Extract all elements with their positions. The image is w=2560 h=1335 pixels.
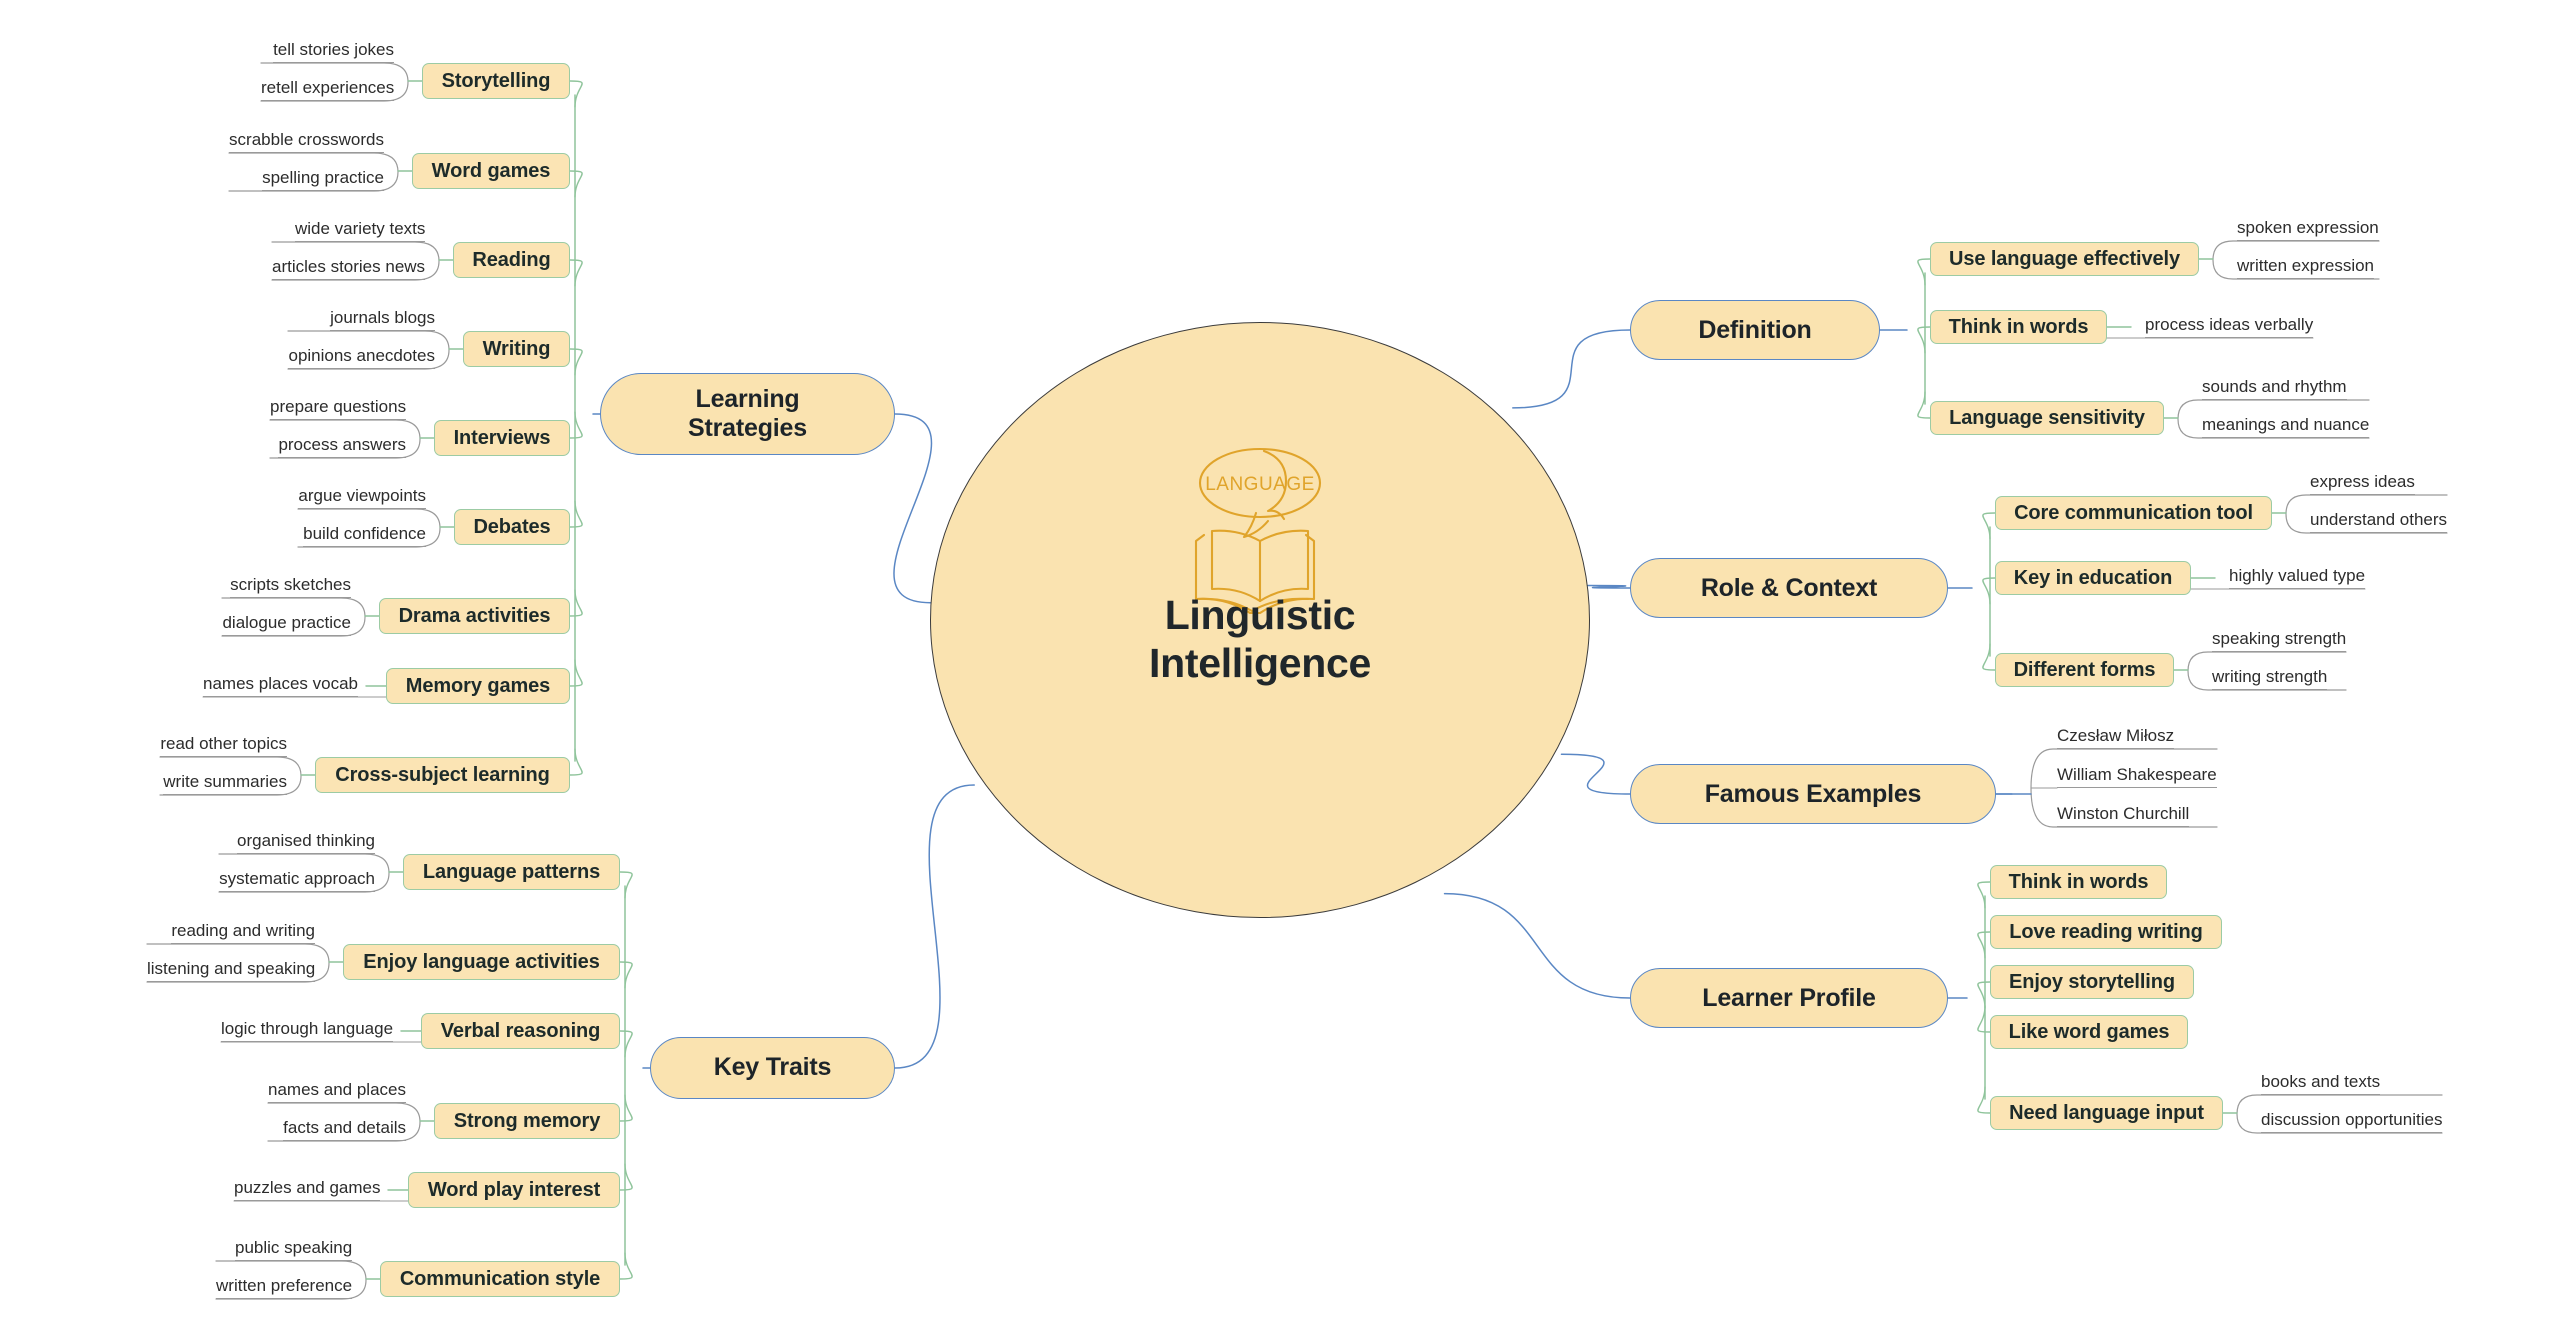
node-learning-strategies-4-label: Interviews [454, 427, 551, 450]
leaf-learning-strategies-6-0[interactable]: scripts sketches [230, 576, 351, 598]
leaf-key-traits-3-0[interactable]: names and places [268, 1081, 406, 1103]
node-role-and-context-2-label: Different forms [2014, 659, 2156, 682]
node-learning-strategies-8-label: Cross-subject learning [335, 764, 550, 787]
node-key-traits-3-label: Strong memory [454, 1110, 601, 1133]
node-definition-1-label: Think in words [1949, 316, 2089, 339]
leaf-famous-examples-0[interactable]: Czesław Miłosz [2057, 727, 2174, 749]
leaf-definition-2-1[interactable]: meanings and nuance [2202, 416, 2369, 438]
leaf-key-traits-4-0-label: puzzles and games [234, 1178, 380, 1197]
node-learner-profile-4[interactable]: Need language input [1990, 1096, 2223, 1130]
branch-learner-profile[interactable]: Learner Profile [1630, 968, 1948, 1028]
node-learning-strategies-5[interactable]: Debates [454, 509, 570, 545]
leaf-learning-strategies-8-0-label: read other topics [160, 734, 287, 753]
leaf-famous-examples-0-label: Czesław Miłosz [2057, 726, 2174, 745]
node-key-traits-3[interactable]: Strong memory [434, 1103, 620, 1139]
leaf-key-traits-3-1[interactable]: facts and details [283, 1119, 406, 1141]
leaf-definition-0-1-label: written expression [2237, 256, 2374, 275]
leaf-definition-2-0-label: sounds and rhythm [2202, 377, 2347, 396]
node-key-traits-4[interactable]: Word play interest [408, 1172, 620, 1208]
leaf-definition-1-0[interactable]: process ideas verbally [2145, 316, 2313, 338]
node-learner-profile-4-label: Need language input [2009, 1102, 2204, 1125]
leaf-learning-strategies-2-1-label: articles stories news [272, 257, 425, 276]
node-learning-strategies-2-label: Reading [472, 249, 550, 272]
node-learning-strategies-6[interactable]: Drama activities [379, 598, 570, 634]
leaf-definition-0-0[interactable]: spoken expression [2237, 219, 2379, 241]
leaf-definition-0-0-label: spoken expression [2237, 218, 2379, 237]
leaf-definition-0-1[interactable]: written expression [2237, 257, 2374, 279]
leaf-learning-strategies-5-0[interactable]: argue viewpoints [298, 487, 426, 509]
node-learning-strategies-0[interactable]: Storytelling [422, 63, 570, 99]
leaf-learning-strategies-6-1[interactable]: dialogue practice [222, 614, 351, 636]
leaf-learning-strategies-5-1[interactable]: build confidence [303, 525, 426, 547]
leaf-learning-strategies-0-0[interactable]: tell stories jokes [273, 41, 394, 63]
node-learning-strategies-7-label: Memory games [406, 675, 550, 698]
leaf-role-and-context-2-1[interactable]: writing strength [2212, 668, 2327, 690]
node-definition-2[interactable]: Language sensitivity [1930, 401, 2164, 435]
node-learner-profile-3-label: Like word games [2009, 1021, 2170, 1044]
branch-key-traits-label: Key Traits [714, 1053, 832, 1083]
leaf-learning-strategies-6-1-label: dialogue practice [222, 613, 351, 632]
node-learning-strategies-0-label: Storytelling [442, 70, 551, 93]
node-learning-strategies-3-label: Writing [483, 338, 551, 361]
node-role-and-context-0-label: Core communication tool [2014, 502, 2253, 525]
leaf-key-traits-5-1-label: written preference [216, 1276, 352, 1295]
leaf-role-and-context-2-1-label: writing strength [2212, 667, 2327, 686]
leaf-key-traits-3-0-label: names and places [268, 1080, 406, 1099]
leaf-learner-profile-4-1[interactable]: discussion opportunities [2261, 1111, 2442, 1133]
branch-learning-strategies[interactable]: LearningStrategies [600, 373, 895, 455]
leaf-key-traits-0-1-label: systematic approach [219, 869, 375, 888]
node-learner-profile-0-label: Think in words [2009, 871, 2149, 894]
leaf-role-and-context-2-0-label: speaking strength [2212, 629, 2346, 648]
leaf-key-traits-5-0[interactable]: public speaking [235, 1239, 352, 1261]
node-role-and-context-1-label: Key in education [2014, 567, 2172, 590]
node-learning-strategies-4[interactable]: Interviews [434, 420, 570, 456]
leaf-famous-examples-2[interactable]: Winston Churchill [2057, 805, 2189, 827]
node-definition-0[interactable]: Use language effectively [1930, 242, 2199, 276]
leaf-learning-strategies-4-1[interactable]: process answers [278, 436, 406, 458]
leaf-key-traits-0-1[interactable]: systematic approach [219, 870, 375, 892]
node-learner-profile-1-label: Love reading writing [2009, 921, 2203, 944]
branch-learner-profile-label: Learner Profile [1702, 984, 1875, 1013]
leaf-learning-strategies-2-1[interactable]: articles stories news [272, 258, 425, 280]
leaf-definition-2-1-label: meanings and nuance [2202, 415, 2369, 434]
leaf-role-and-context-1-0-label: highly valued type [2229, 566, 2365, 585]
branch-definition-label: Definition [1698, 316, 1811, 345]
leaf-learning-strategies-8-1-label: write summaries [163, 772, 287, 791]
leaf-learner-profile-4-0-label: books and texts [2261, 1072, 2380, 1091]
leaf-famous-examples-1-label: William Shakespeare [2057, 765, 2217, 784]
branch-role-and-context[interactable]: Role & Context [1630, 558, 1948, 618]
node-key-traits-0-label: Language patterns [423, 861, 600, 884]
leaf-key-traits-1-1[interactable]: listening and speaking [147, 960, 315, 982]
node-key-traits-5[interactable]: Communication style [380, 1261, 620, 1297]
node-learning-strategies-7[interactable]: Memory games [386, 668, 570, 704]
leaf-key-traits-1-1-label: listening and speaking [147, 959, 315, 978]
leaf-learning-strategies-4-0-label: prepare questions [270, 397, 406, 416]
leaf-learning-strategies-5-1-label: build confidence [303, 524, 426, 543]
leaf-learning-strategies-1-0-label: scrabble crosswords [229, 130, 384, 149]
leaf-learning-strategies-3-0[interactable]: journals blogs [330, 309, 435, 331]
leaf-learning-strategies-4-1-label: process answers [278, 435, 406, 454]
node-key-traits-0[interactable]: Language patterns [403, 854, 620, 890]
leaf-key-traits-0-0[interactable]: organised thinking [237, 832, 375, 854]
node-learning-strategies-6-label: Drama activities [399, 605, 551, 628]
leaf-role-and-context-2-0[interactable]: speaking strength [2212, 630, 2346, 652]
node-key-traits-1[interactable]: Enjoy language activities [343, 944, 620, 980]
central-node-title: Linguistic Intelligence [931, 591, 1589, 688]
leaf-learning-strategies-7-0[interactable]: names places vocab [203, 675, 358, 697]
node-definition-1[interactable]: Think in words [1930, 310, 2107, 344]
leaf-role-and-context-1-0[interactable]: highly valued type [2229, 567, 2365, 589]
node-learner-profile-0[interactable]: Think in words [1990, 865, 2167, 899]
leaf-role-and-context-0-1-label: understand others [2310, 510, 2447, 529]
leaf-key-traits-4-0[interactable]: puzzles and games [234, 1179, 380, 1201]
leaf-key-traits-3-1-label: facts and details [283, 1118, 406, 1137]
leaf-learning-strategies-2-0-label: wide variety texts [295, 219, 425, 238]
leaf-learning-strategies-1-1[interactable]: spelling practice [262, 169, 384, 191]
mindmap-canvas: LANGUAGE Linguistic Intelligence Learnin… [0, 0, 2560, 1335]
leaf-learning-strategies-3-1-label: opinions anecdotes [288, 346, 435, 365]
node-learning-strategies-1[interactable]: Word games [412, 153, 570, 189]
node-role-and-context-2[interactable]: Different forms [1995, 653, 2174, 687]
leaf-key-traits-2-0[interactable]: logic through language [221, 1020, 393, 1042]
central-node[interactable]: LANGUAGE Linguistic Intelligence [930, 322, 1590, 918]
leaf-learning-strategies-0-0-label: tell stories jokes [273, 40, 394, 59]
node-learner-profile-1[interactable]: Love reading writing [1990, 915, 2222, 949]
node-key-traits-4-label: Word play interest [428, 1179, 600, 1202]
branch-role-and-context-label: Role & Context [1701, 574, 1877, 603]
node-key-traits-2-label: Verbal reasoning [441, 1020, 601, 1043]
node-learning-strategies-1-label: Word games [432, 160, 551, 183]
node-learner-profile-2-label: Enjoy storytelling [2009, 971, 2175, 994]
leaf-learner-profile-4-1-label: discussion opportunities [2261, 1110, 2442, 1129]
leaf-role-and-context-0-0-label: express ideas [2310, 472, 2415, 491]
branch-famous-examples-label: Famous Examples [1705, 780, 1922, 809]
central-title-line-1: Linguistic [1165, 592, 1356, 638]
central-title-line-2: Intelligence [1149, 640, 1371, 686]
leaf-learning-strategies-4-0[interactable]: prepare questions [270, 398, 406, 420]
leaf-role-and-context-0-1[interactable]: understand others [2310, 511, 2447, 533]
leaf-role-and-context-0-0[interactable]: express ideas [2310, 473, 2415, 495]
leaf-learning-strategies-7-0-label: names places vocab [203, 674, 358, 693]
leaf-learning-strategies-0-1-label: retell experiences [261, 78, 394, 97]
leaf-learning-strategies-6-0-label: scripts sketches [230, 575, 351, 594]
node-learning-strategies-3[interactable]: Writing [463, 331, 570, 367]
node-learner-profile-3[interactable]: Like word games [1990, 1015, 2188, 1049]
node-learning-strategies-8[interactable]: Cross-subject learning [315, 757, 570, 793]
leaf-learning-strategies-3-0-label: journals blogs [330, 308, 435, 327]
node-learning-strategies-5-label: Debates [473, 516, 550, 539]
node-role-and-context-0[interactable]: Core communication tool [1995, 496, 2272, 530]
leaf-key-traits-0-0-label: organised thinking [237, 831, 375, 850]
leaf-key-traits-1-0[interactable]: reading and writing [171, 922, 315, 944]
leaf-definition-1-0-label: process ideas verbally [2145, 315, 2313, 334]
leaf-learning-strategies-8-0[interactable]: read other topics [160, 735, 287, 757]
node-key-traits-2[interactable]: Verbal reasoning [421, 1013, 620, 1049]
leaf-learning-strategies-8-1[interactable]: write summaries [163, 773, 287, 795]
leaf-learning-strategies-3-1[interactable]: opinions anecdotes [288, 347, 435, 369]
leaf-learning-strategies-1-1-label: spelling practice [262, 168, 384, 187]
node-key-traits-5-label: Communication style [400, 1268, 600, 1291]
node-role-and-context-1[interactable]: Key in education [1995, 561, 2191, 595]
leaf-learning-strategies-1-0[interactable]: scrabble crosswords [229, 131, 384, 153]
leaf-key-traits-5-0-label: public speaking [235, 1238, 352, 1257]
branch-definition[interactable]: Definition [1630, 300, 1880, 360]
leaf-key-traits-1-0-label: reading and writing [171, 921, 315, 940]
branch-learning-strategies-label: LearningStrategies [688, 385, 807, 444]
leaf-famous-examples-1[interactable]: William Shakespeare [2057, 766, 2217, 788]
leaf-learning-strategies-2-0[interactable]: wide variety texts [295, 220, 425, 242]
node-key-traits-1-label: Enjoy language activities [363, 951, 599, 974]
node-learner-profile-2[interactable]: Enjoy storytelling [1990, 965, 2194, 999]
node-definition-2-label: Language sensitivity [1949, 407, 2145, 430]
node-definition-0-label: Use language effectively [1949, 248, 2180, 271]
branch-key-traits[interactable]: Key Traits [650, 1037, 895, 1099]
branch-famous-examples[interactable]: Famous Examples [1630, 764, 1996, 824]
svg-text:LANGUAGE: LANGUAGE [1205, 474, 1315, 495]
leaf-key-traits-5-1[interactable]: written preference [216, 1277, 352, 1299]
leaf-learning-strategies-0-1[interactable]: retell experiences [261, 79, 394, 101]
leaf-definition-2-0[interactable]: sounds and rhythm [2202, 378, 2347, 400]
leaf-famous-examples-2-label: Winston Churchill [2057, 804, 2189, 823]
node-learning-strategies-2[interactable]: Reading [453, 242, 570, 278]
leaf-learner-profile-4-0[interactable]: books and texts [2261, 1073, 2380, 1095]
leaf-key-traits-2-0-label: logic through language [221, 1019, 393, 1038]
leaf-learning-strategies-5-0-label: argue viewpoints [298, 486, 426, 505]
